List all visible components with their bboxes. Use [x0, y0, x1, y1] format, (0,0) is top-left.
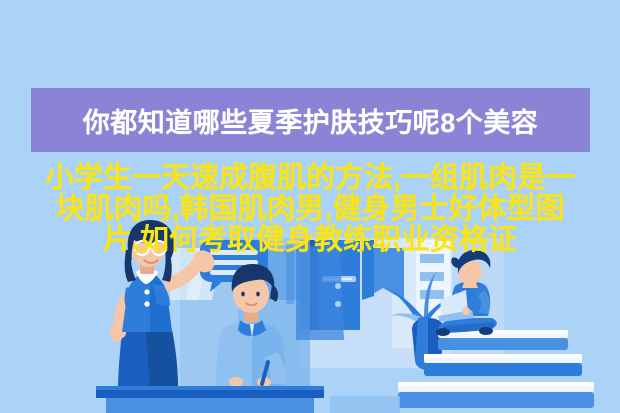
banner-title-text: 你都知道哪些夏季护肤技巧呢8个美容 — [31, 88, 590, 152]
foreground-shelf — [330, 396, 400, 413]
caption-line-2: 块肌肉吗,韩国肌肉男,健身男士好体型图 — [0, 194, 620, 225]
caption-line-3: 片,如何考取健身教练职业资格证 — [0, 225, 620, 256]
caption-line-1: 小学生一天速成腹肌的方法,一组肌肉是一 — [0, 163, 620, 194]
yellow-caption-overlay: 小学生一天速成腹肌的方法,一组肌肉是一 块肌肉吗,韩国肌肉男,健身男士好体型图 … — [0, 163, 620, 256]
classroom-desk — [96, 386, 324, 413]
screenshot-canvas: 你都知道哪些夏季护肤技巧呢8个美容 小学生一天速成腹肌的方法,一组肌肉是一 块肌… — [0, 0, 620, 413]
